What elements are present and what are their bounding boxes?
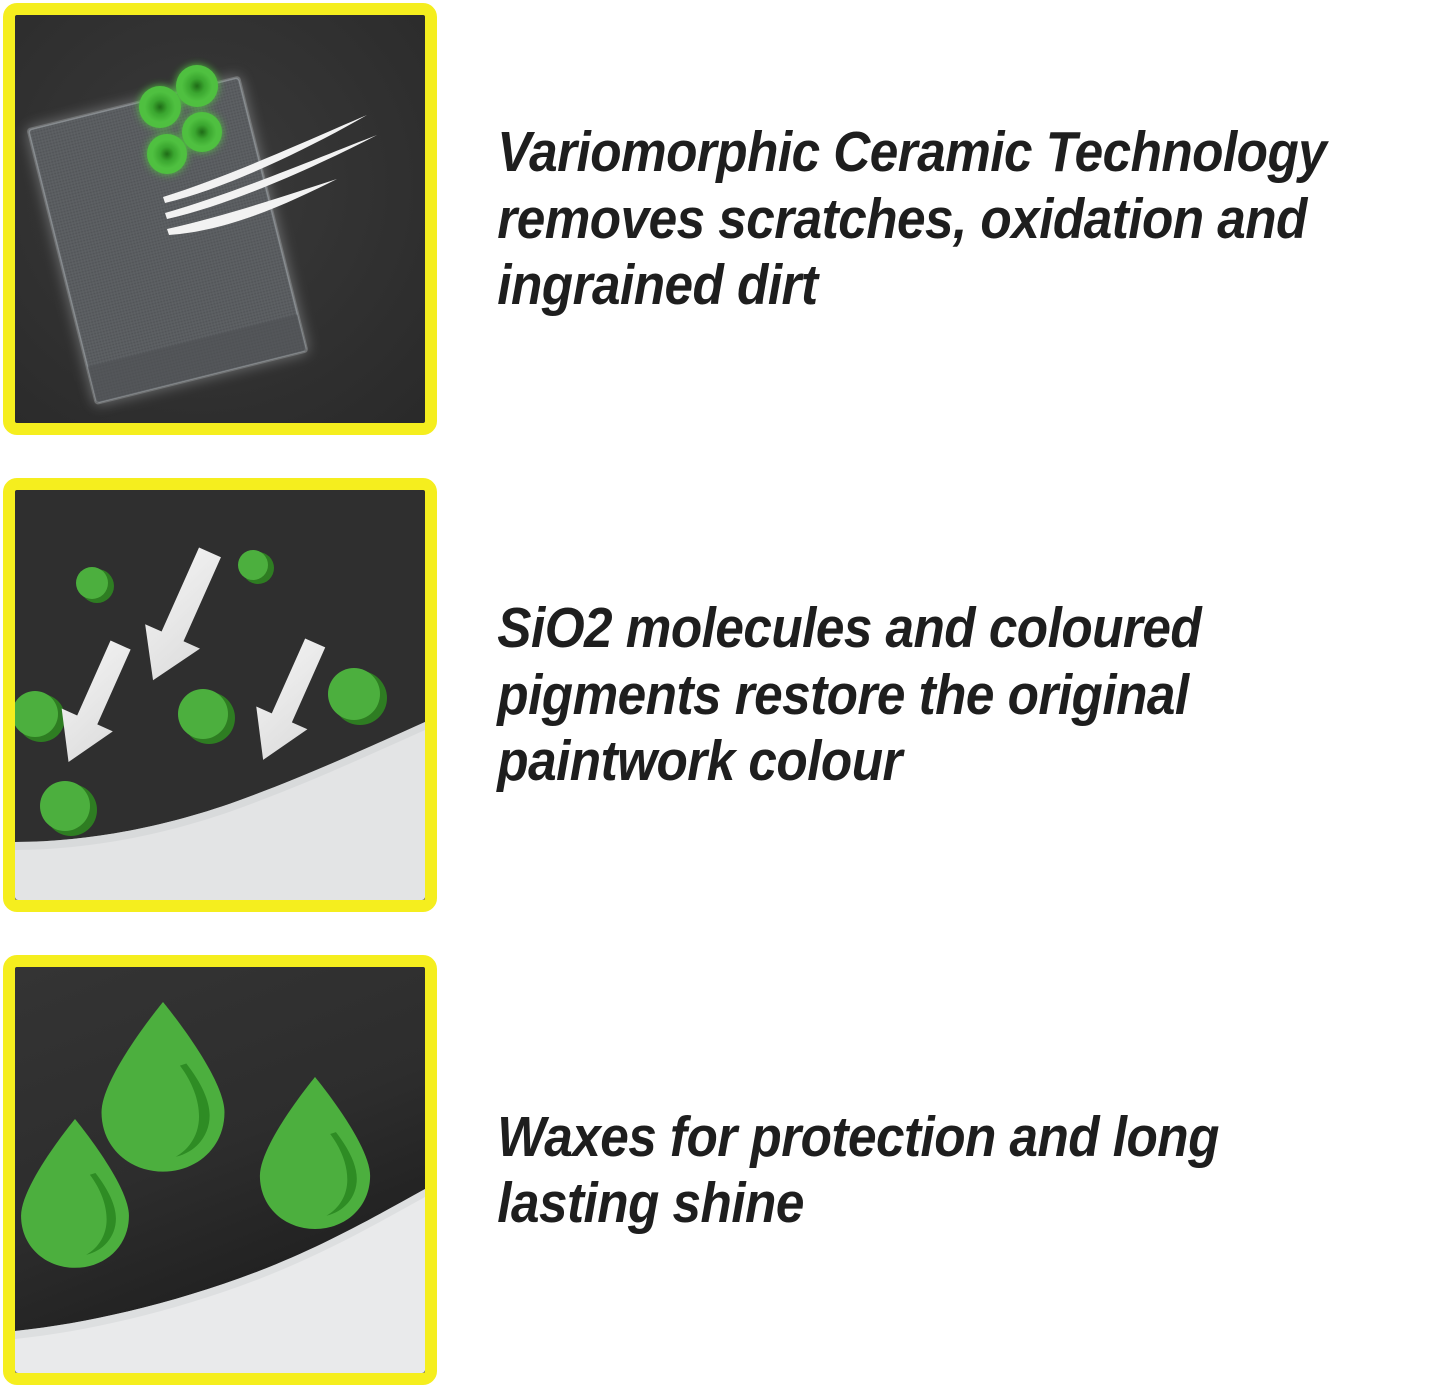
caption-line: Variomorphic Ceramic Technology — [497, 119, 1335, 185]
feature-caption-2: SiO2 molecules and coloured pigments res… — [437, 595, 1344, 794]
panel-inner-1 — [15, 15, 425, 423]
product-feature-infographic: Variomorphic Ceramic Technology removes … — [0, 0, 1445, 1390]
caption-line: Waxes for protection and long — [497, 1104, 1335, 1170]
water-droplets-icon — [15, 967, 425, 1373]
panel-inner-2 — [15, 490, 425, 900]
feature-caption-1: Variomorphic Ceramic Technology removes … — [437, 119, 1344, 318]
illustration-panel-sio2-molecules — [3, 478, 437, 912]
microfibre-cloth-icon — [15, 15, 425, 423]
panel-inner-3 — [15, 967, 425, 1373]
caption-line: removes scratches, oxidation and — [497, 186, 1335, 252]
feature-caption-3: Waxes for protection and long lasting sh… — [437, 1104, 1344, 1237]
sio2-molecules-icon — [15, 490, 425, 900]
caption-line: lasting shine — [497, 1170, 1335, 1236]
feature-row-3: Waxes for protection and long lasting sh… — [0, 955, 1445, 1385]
caption-line: SiO2 molecules and coloured — [497, 595, 1335, 661]
caption-line: paintwork colour — [497, 728, 1335, 794]
feature-row-2: SiO2 molecules and coloured pigments res… — [0, 478, 1445, 912]
caption-line: ingrained dirt — [497, 252, 1335, 318]
illustration-panel-wax-protection — [3, 955, 437, 1385]
illustration-panel-scratch-removal — [3, 3, 437, 435]
feature-row-1: Variomorphic Ceramic Technology removes … — [0, 3, 1445, 435]
caption-line: pigments restore the original — [497, 662, 1335, 728]
